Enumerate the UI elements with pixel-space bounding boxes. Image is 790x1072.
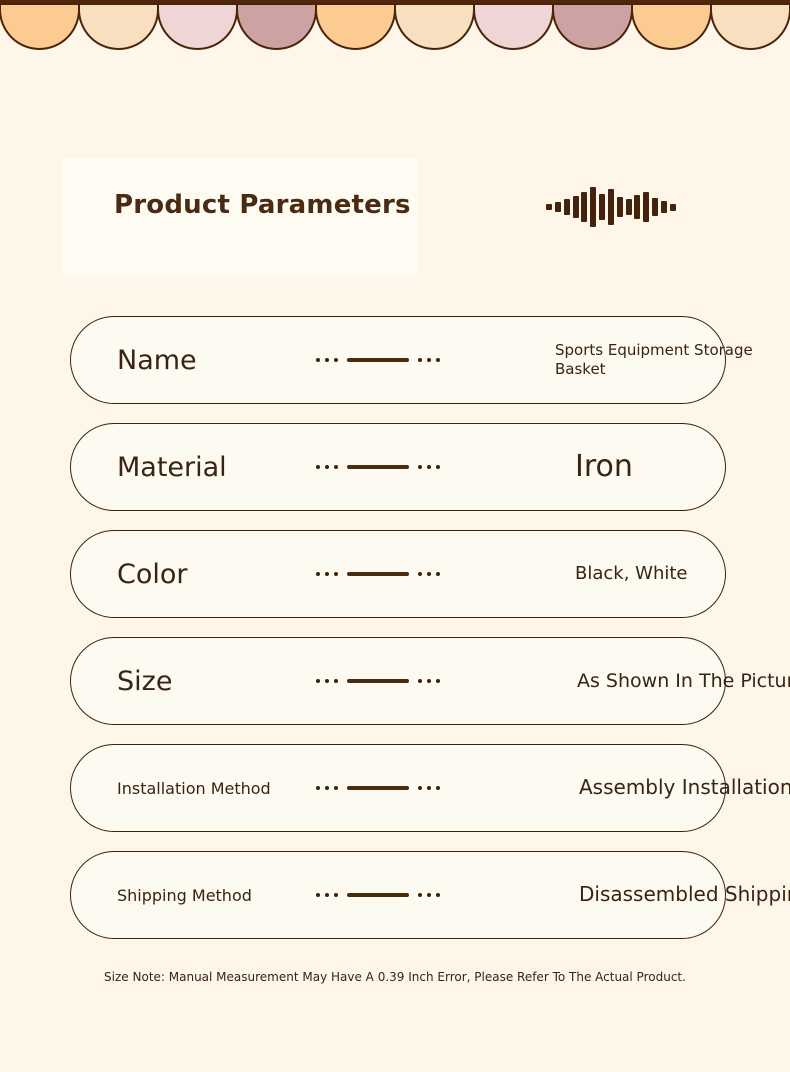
parameter-label: Material xyxy=(117,452,227,483)
audio-waveform-icon xyxy=(546,185,676,229)
waveform-bar xyxy=(617,197,623,217)
scallop-arch xyxy=(474,4,553,49)
parameter-value: Iron xyxy=(575,448,775,486)
scallop-arch xyxy=(632,4,711,49)
scallop-banner xyxy=(0,0,790,56)
waveform-bar xyxy=(634,195,640,219)
parameter-value: Disassembled Shipping xyxy=(579,882,790,908)
waveform-bar xyxy=(670,204,676,211)
dotted-dash-separator-icon xyxy=(316,786,440,790)
parameter-row-color: Color Black, White xyxy=(70,530,726,618)
parameter-label: Shipping Method xyxy=(117,886,252,905)
parameter-label: Name xyxy=(117,345,197,376)
waveform-bar xyxy=(608,189,614,225)
parameter-row-shipping-method: Shipping Method Disassembled Shipping xyxy=(70,851,726,939)
waveform-bar xyxy=(599,194,605,220)
waveform-bar xyxy=(546,204,552,210)
waveform-bar xyxy=(573,196,579,218)
parameter-value: Assembly Installation xyxy=(579,775,790,801)
dotted-dash-separator-icon xyxy=(316,465,440,469)
header: Product Parameters xyxy=(0,185,790,257)
scallop-arch xyxy=(237,4,316,49)
waveform-bar xyxy=(590,187,596,227)
scallop-arch xyxy=(711,4,790,49)
waveform-bar xyxy=(555,202,561,212)
parameter-label: Installation Method xyxy=(117,779,271,798)
waveform-bar xyxy=(626,199,632,215)
parameter-list: Name Sports Equipment Storage Basket Mat… xyxy=(70,316,726,958)
scallop-arch xyxy=(158,4,237,49)
waveform-bar xyxy=(581,192,587,222)
parameter-row-material: Material Iron xyxy=(70,423,726,511)
waveform-bar xyxy=(643,192,649,222)
size-note: Size Note: Manual Measurement May Have A… xyxy=(0,970,790,984)
parameter-row-name: Name Sports Equipment Storage Basket xyxy=(70,316,726,404)
parameter-row-installation-method: Installation Method Assembly Installatio… xyxy=(70,744,726,832)
parameter-value: Black, White xyxy=(575,562,775,585)
parameter-label: Color xyxy=(117,559,188,590)
dotted-dash-separator-icon xyxy=(316,358,440,362)
waveform-bar xyxy=(652,198,658,216)
scallop-arch xyxy=(316,4,395,49)
parameter-value: As Shown In The Picture xyxy=(577,669,790,693)
page-title: Product Parameters xyxy=(114,185,411,225)
dotted-dash-separator-icon xyxy=(316,679,440,683)
scallop-arch xyxy=(553,4,632,49)
dotted-dash-separator-icon xyxy=(316,893,440,897)
scallop-arch xyxy=(395,4,474,49)
waveform-bar xyxy=(564,199,570,215)
scallop-arch xyxy=(79,4,158,49)
waveform-bar xyxy=(661,201,667,213)
parameter-row-size: Size As Shown In The Picture xyxy=(70,637,726,725)
parameter-label: Size xyxy=(117,666,172,697)
dotted-dash-separator-icon xyxy=(316,572,440,576)
parameter-value: Sports Equipment Storage Basket xyxy=(555,341,770,379)
scallop-arch xyxy=(0,4,79,49)
